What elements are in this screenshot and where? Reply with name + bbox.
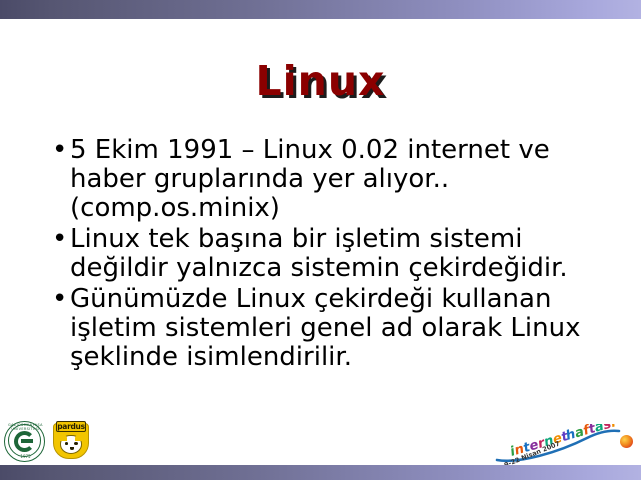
page-title: Linux bbox=[0, 57, 641, 105]
pardus-eye-left bbox=[65, 442, 69, 445]
bullet-list: • 5 Ekim 1991 – Linux 0.02 internet ve h… bbox=[52, 136, 627, 374]
pardus-wordmark: pardus bbox=[56, 421, 86, 432]
pardus-leopard-face-icon bbox=[60, 435, 82, 454]
university-seal-icon: GAZİOSMANPAŞA ÜNİVERSİTESİ 1975 bbox=[4, 421, 45, 462]
pardus-logo-icon: pardus bbox=[50, 420, 92, 462]
ih-word-haftasi: haftası bbox=[564, 424, 618, 444]
pardus-ear-right bbox=[75, 435, 82, 441]
top-gradient-bar bbox=[0, 0, 641, 19]
list-item: • Günümüzde Linux çekirdeği kullanan işl… bbox=[52, 285, 627, 372]
internet-haftasi-logo-icon: internet haftası 9-22 Nisan 2007 bbox=[495, 424, 635, 466]
footer-logo-group-left: GAZİOSMANPAŞA ÜNİVERSİTESİ 1975 pardus bbox=[4, 420, 92, 462]
bullet-dot-icon: • bbox=[52, 225, 70, 254]
ih-dot-icon bbox=[620, 435, 633, 448]
seal-year-text: 1975 bbox=[5, 454, 46, 459]
bullet-dot-icon: • bbox=[52, 285, 70, 314]
list-item: • Linux tek başına bir işletim sistemi d… bbox=[52, 225, 627, 283]
seal-monogram-bar bbox=[21, 439, 33, 443]
list-item: • 5 Ekim 1991 – Linux 0.02 internet ve h… bbox=[52, 136, 627, 223]
seal-ring-text: GAZİOSMANPAŞA ÜNİVERSİTESİ bbox=[5, 423, 46, 431]
slide-canvas: Linux • 5 Ekim 1991 – Linux 0.02 interne… bbox=[0, 0, 641, 480]
pardus-nose bbox=[70, 447, 74, 450]
list-item-text: Linux tek başına bir işletim sistemi değ… bbox=[70, 225, 627, 283]
bullet-dot-icon: • bbox=[52, 136, 70, 165]
bottom-gradient-bar bbox=[0, 465, 641, 480]
list-item-text: Günümüzde Linux çekirdeği kullanan işlet… bbox=[70, 285, 627, 372]
internet-haftasi-artwork: internet haftası 9-22 Nisan 2007 bbox=[495, 424, 635, 466]
list-item-text: 5 Ekim 1991 – Linux 0.02 internet ve hab… bbox=[70, 136, 627, 223]
pardus-ear-left bbox=[60, 435, 67, 441]
pardus-eye-right bbox=[74, 442, 78, 445]
